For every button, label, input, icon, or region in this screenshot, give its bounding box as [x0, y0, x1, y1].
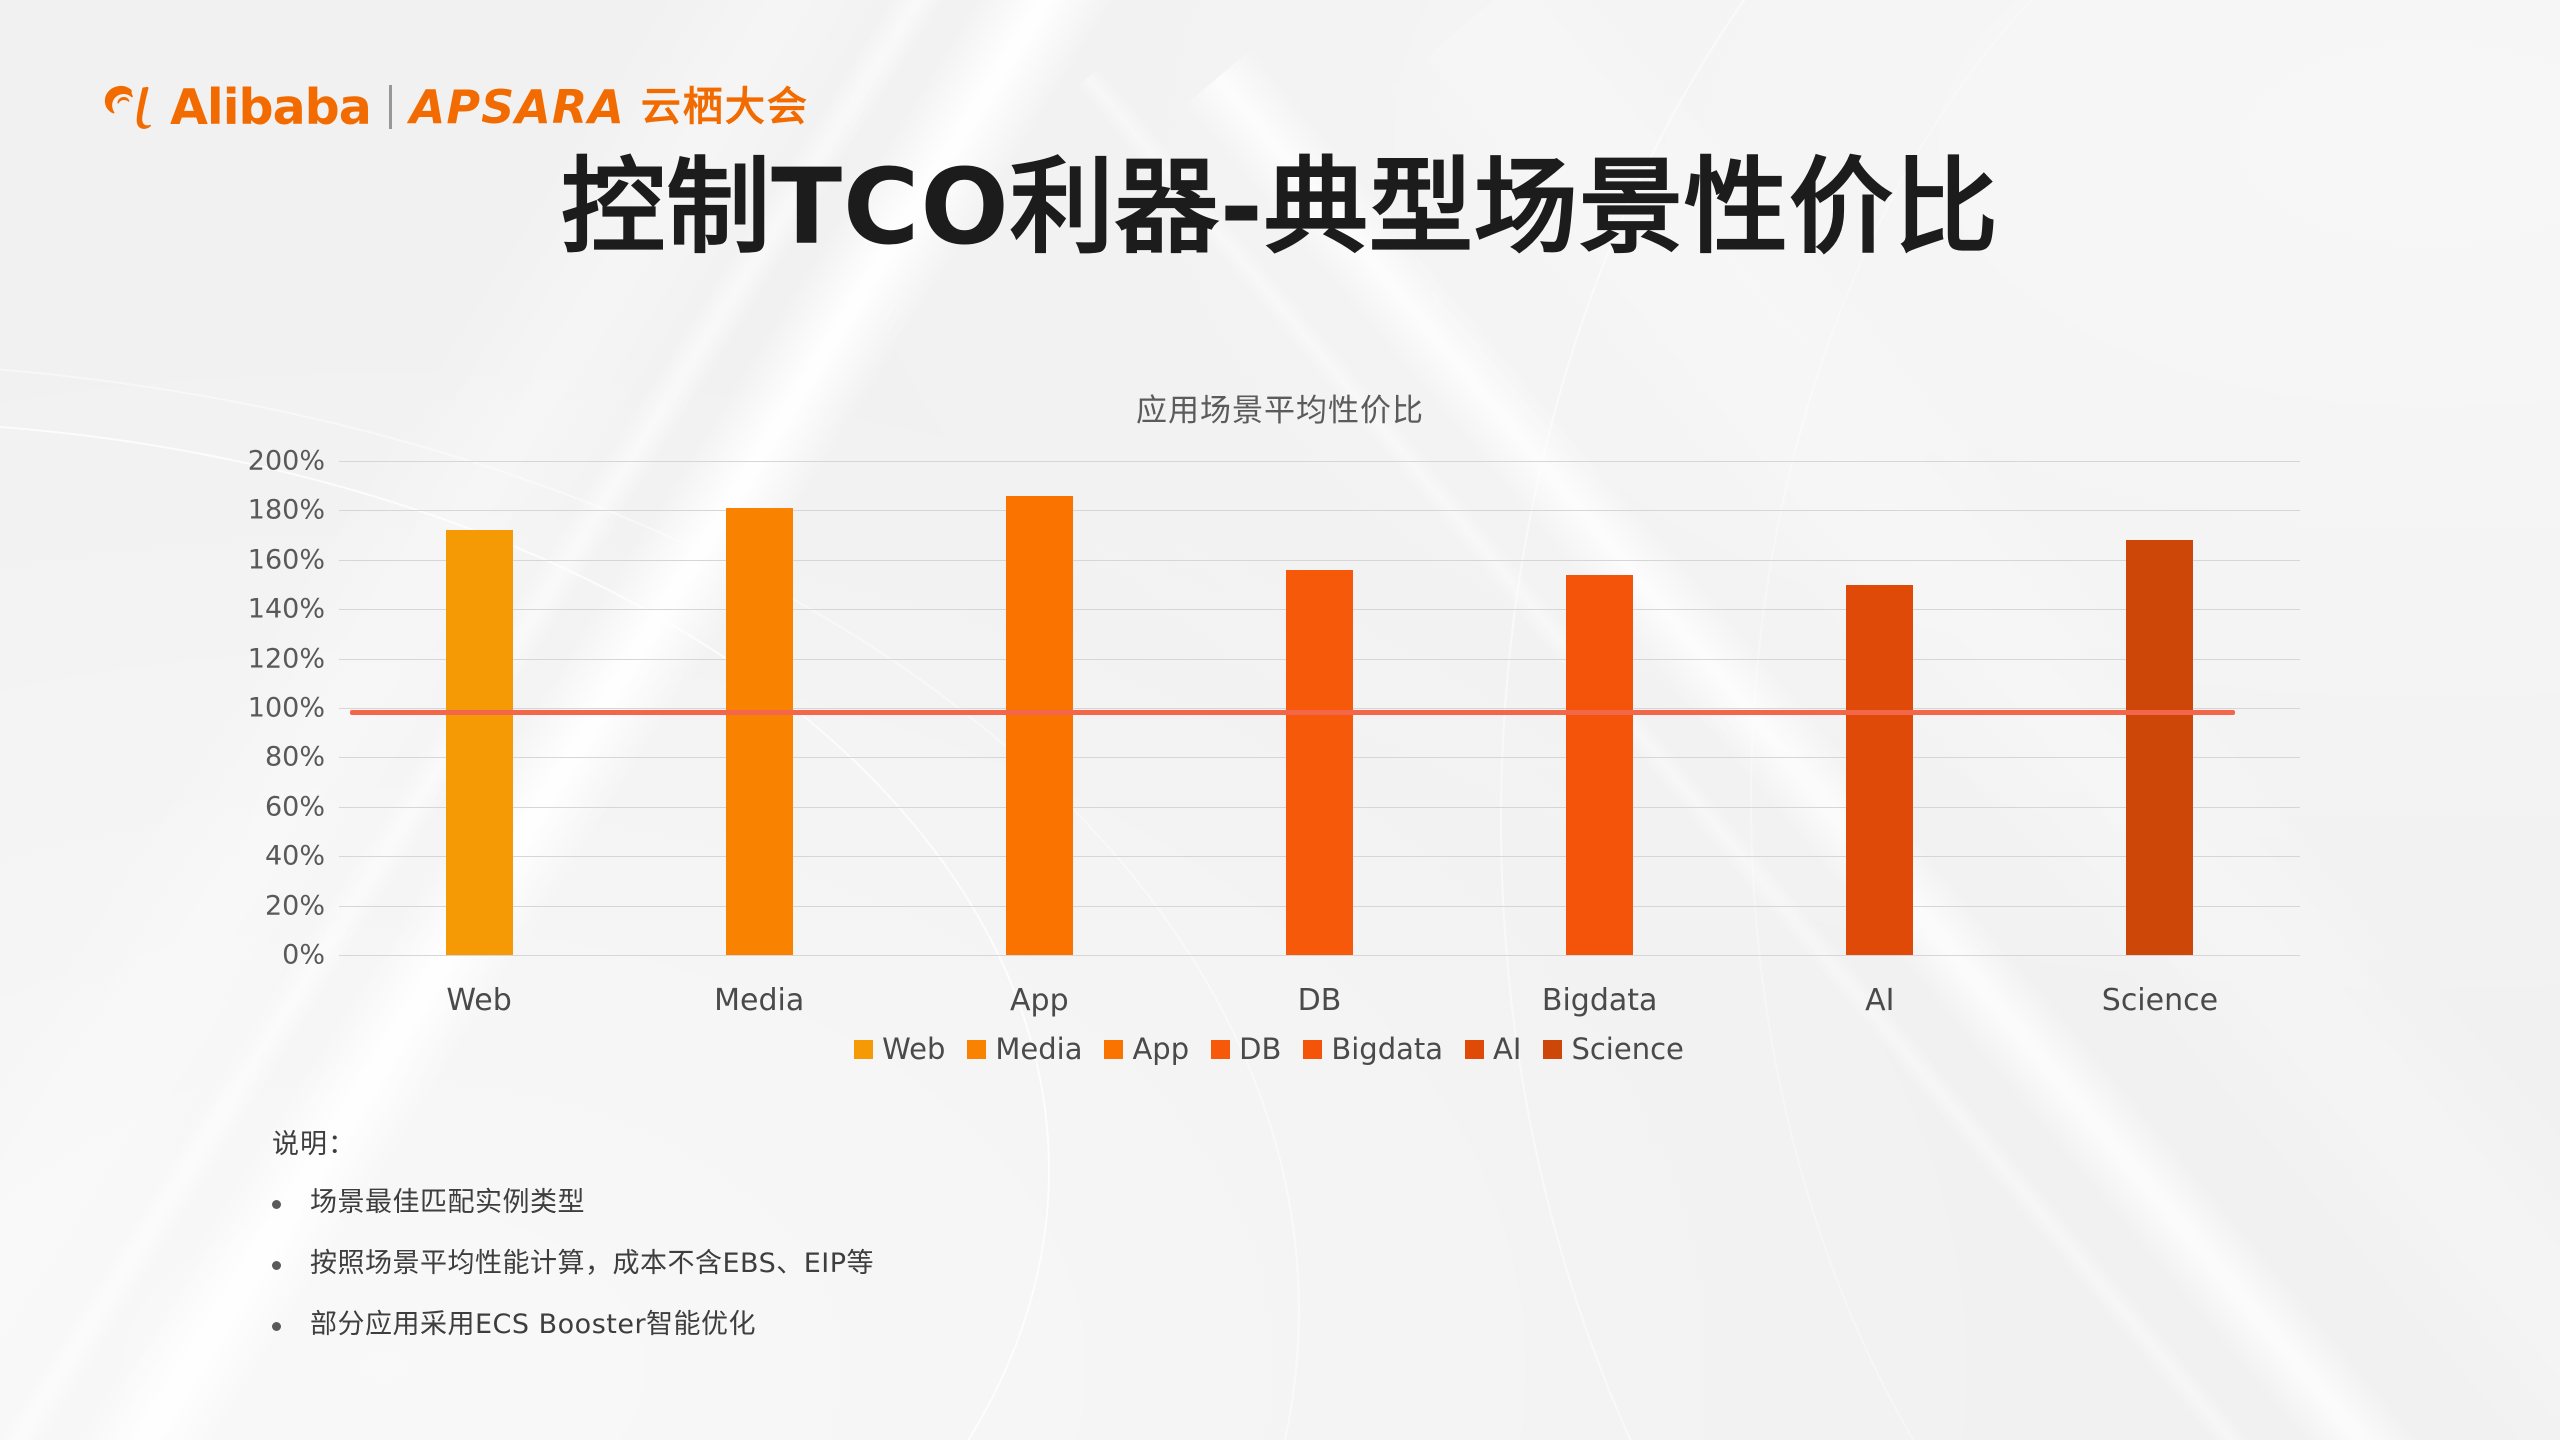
x-axis-tick-label: AI: [1865, 983, 1894, 1018]
bullet-icon: [272, 1322, 281, 1331]
y-axis-tick-label: 160%: [215, 544, 325, 575]
note-item: 部分应用采用ECS Booster智能优化: [272, 1307, 874, 1342]
note-item: 按照场景平均性能计算，成本不含EBS、EIP等: [272, 1246, 874, 1281]
legend-swatch-icon: [1543, 1040, 1562, 1059]
reference-line-100pct: [350, 710, 2235, 715]
bar-science[interactable]: [2126, 540, 2193, 955]
x-axis-tick-label: Bigdata: [1542, 983, 1658, 1018]
y-axis-tick-label: 40%: [215, 841, 325, 872]
notes-heading: 说明：: [272, 1122, 874, 1161]
y-axis-tick-label: 60%: [215, 791, 325, 822]
bar-bigdata[interactable]: [1566, 575, 1633, 955]
y-axis-tick-label: 120%: [215, 643, 325, 674]
y-axis-tick-label: 80%: [215, 742, 325, 773]
bar-media[interactable]: [726, 508, 793, 955]
legend-label: AI: [1493, 1032, 1521, 1066]
legend-swatch-icon: [1104, 1040, 1123, 1059]
x-axis-tick-label: DB: [1298, 983, 1342, 1018]
legend-label: Media: [995, 1032, 1082, 1066]
note-text: 部分应用采用ECS Booster智能优化: [310, 1307, 756, 1342]
legend-item-app[interactable]: App: [1104, 1032, 1189, 1066]
legend-label: DB: [1239, 1032, 1281, 1066]
notes-list: 场景最佳匹配实例类型按照场景平均性能计算，成本不含EBS、EIP等部分应用采用E…: [272, 1185, 874, 1342]
legend-item-ai[interactable]: AI: [1465, 1032, 1521, 1066]
bullet-icon: [272, 1200, 281, 1209]
gridline: [339, 560, 2300, 561]
legend-swatch-icon: [854, 1040, 873, 1059]
bar-ai[interactable]: [1846, 585, 1913, 956]
y-axis-tick-label: 0%: [215, 940, 325, 971]
notes-block: 说明： 场景最佳匹配实例类型按照场景平均性能计算，成本不含EBS、EIP等部分应…: [272, 1122, 874, 1368]
y-axis-tick-label: 20%: [215, 890, 325, 921]
note-text: 场景最佳匹配实例类型: [310, 1185, 585, 1220]
note-item: 场景最佳匹配实例类型: [272, 1185, 874, 1220]
y-axis-tick-label: 200%: [215, 446, 325, 477]
legend-label: App: [1132, 1032, 1189, 1066]
legend-label: Science: [1571, 1032, 1683, 1066]
legend-swatch-icon: [1303, 1040, 1322, 1059]
gridline: [339, 510, 2300, 511]
legend-item-bigdata[interactable]: Bigdata: [1303, 1032, 1443, 1066]
bar-db[interactable]: [1286, 570, 1353, 955]
legend-item-science[interactable]: Science: [1543, 1032, 1683, 1066]
legend-swatch-icon: [1211, 1040, 1230, 1059]
legend-label: Bigdata: [1331, 1032, 1443, 1066]
legend-item-db[interactable]: DB: [1211, 1032, 1281, 1066]
legend-swatch-icon: [1465, 1040, 1484, 1059]
legend-item-media[interactable]: Media: [967, 1032, 1082, 1066]
legend-label: Web: [882, 1032, 945, 1066]
bullet-icon: [272, 1261, 281, 1270]
y-axis-tick-label: 180%: [215, 495, 325, 526]
legend-swatch-icon: [967, 1040, 986, 1059]
bar-web[interactable]: [446, 530, 513, 955]
bar-app[interactable]: [1006, 496, 1073, 955]
x-axis-tick-label: App: [1010, 983, 1069, 1018]
gridline: [339, 461, 2300, 462]
y-axis-tick-label: 140%: [215, 594, 325, 625]
x-axis-tick-label: Web: [446, 983, 511, 1018]
legend-item-web[interactable]: Web: [854, 1032, 945, 1066]
chart-legend: WebMediaAppDBBigdataAIScience: [0, 1032, 2560, 1066]
note-text: 按照场景平均性能计算，成本不含EBS、EIP等: [310, 1246, 874, 1281]
x-axis-tick-label: Media: [714, 983, 804, 1018]
gridline: [339, 955, 2300, 956]
y-axis-tick-label: 100%: [215, 693, 325, 724]
x-axis-tick-label: Science: [2102, 983, 2218, 1018]
